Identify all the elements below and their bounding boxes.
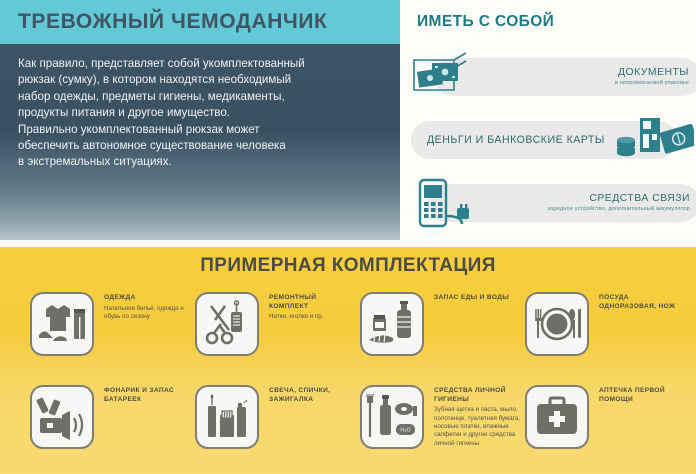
carry-list-section: ИМЕТЬ С СОБОЙ ДОКУМЕНТЫ в непромокаемой … (400, 0, 696, 240)
kit-item-text: ЗАПАС ЕДЫ И ВОДЫ (434, 294, 516, 305)
kit-item-title: ПОСУДА ОДНОРАЗОВАЯ, НОЖ (599, 294, 681, 311)
kit-item-sub: Зубная щетка и паста, мыло, полотенце, т… (434, 406, 530, 448)
tableware-icon (531, 302, 583, 346)
kit-item-sub: Нательное бельё, одежда и обувь по сезон… (104, 305, 186, 322)
kit-item-title: ЗАПАС ЕДЫ И ВОДЫ (434, 294, 516, 303)
kit-item-title: СВЕЧА, СПИЧКИ, ЗАЖИГАЛКА (269, 387, 351, 404)
hygiene-icon: H₂O (365, 393, 419, 441)
kit-item-hygiene: H₂O СРЕДСТВА ЛИЧНОЙ ГИГИЕНЫ Зубная щетка… (352, 381, 517, 474)
flashlight-battery-icon (36, 394, 88, 440)
kit-item-first-aid: АПТЕЧКА ПЕРВОЙ ПОМОЩИ (517, 381, 682, 474)
kit-item-text: СВЕЧА, СПИЧКИ, ЗАЖИГАЛКА (269, 387, 351, 406)
hero-line: в экстремальных ситуациях. (18, 154, 380, 170)
hero-line: рюкзак (сумку), в котором находятся необ… (18, 72, 380, 88)
carry-item-sublabel: в непромокаемой упаковке (615, 80, 689, 86)
kit-item-tile (195, 292, 259, 356)
carry-item-label-group: ДОКУМЕНТЫ в непромокаемой упаковке (615, 67, 689, 86)
kit-item-tile: H₂O (360, 385, 424, 449)
kit-item-sub: Нитки, иголки и пр. (269, 313, 351, 321)
kit-item-text: ФОНАРИК И ЗАПАС БАТАРЕЕК (104, 387, 186, 406)
kit-item-text: ОДЕЖДА Нательное бельё, одежда и обувь п… (104, 294, 186, 321)
kit-item-text: СРЕДСТВА ЛИЧНОЙ ГИГИЕНЫ Зубная щетка и п… (434, 387, 530, 448)
kit-item-tile (525, 292, 589, 356)
hero-panel: ТРЕВОЖНЫЙ ЧЕМОДАНЧИК Как правило, предст… (0, 0, 400, 240)
kit-item-tile (30, 385, 94, 449)
carry-item-label: СРЕДСТВА СВЯЗИ (547, 193, 690, 205)
carry-list-title: ИМЕТЬ С СОБОЙ (417, 13, 554, 31)
kit-item-text: ПОСУДА ОДНОРАЗОВАЯ, НОЖ (599, 294, 681, 313)
kit-section: ПРИМЕРНАЯ КОМПЛЕКТАЦИЯ ОДЕЖДА На (0, 247, 696, 474)
infographic-page: ТРЕВОЖНЫЙ ЧЕМОДАНЧИК Как правило, предст… (0, 0, 696, 474)
kit-item-title: РЕМОНТНЫЙ КОМПЛЕКТ (269, 294, 351, 311)
hero-line: обеспечить автономное существование чело… (18, 138, 380, 154)
kit-section-title: ПРИМЕРНАЯ КОМПЛЕКТАЦИЯ (0, 255, 696, 277)
kit-item-text: РЕМОНТНЫЙ КОМПЛЕКТ Нитки, иголки и пр. (269, 294, 351, 322)
carry-item-label: ДЕНЬГИ И БАНКОВСКИЕ КАРТЫ (427, 134, 605, 146)
top-section: ТРЕВОЖНЫЙ ЧЕМОДАНЧИК Как правило, предст… (0, 0, 696, 240)
kit-item-text: АПТЕЧКА ПЕРВОЙ ПОМОЩИ (599, 387, 681, 406)
carry-item-label: ДОКУМЕНТЫ (615, 67, 689, 79)
kit-item-title: СРЕДСТВА ЛИЧНОЙ ГИГИЕНЫ (434, 387, 530, 404)
kit-item-tile (30, 292, 94, 356)
hero-description: Как правило, представляет собой укомплек… (18, 56, 380, 171)
carry-item-label-group: СРЕДСТВА СВЯЗИ зарядное устройство, допо… (547, 193, 690, 212)
kit-item-title: ОДЕЖДА (104, 294, 186, 303)
kit-item-tile (195, 385, 259, 449)
hero-line: Правильно укомплектованный рюкзак может (18, 122, 380, 138)
kit-item-food-water: ЗАПАС ЕДЫ И ВОДЫ (352, 288, 517, 381)
kit-item-flashlight: ФОНАРИК И ЗАПАС БАТАРЕЕК (22, 381, 187, 474)
repair-kit-icon (203, 300, 251, 348)
carry-item-sublabel: зарядное устройство, дополнительный акку… (547, 206, 690, 212)
food-water-icon (367, 300, 417, 348)
kit-item-title: ФОНАРИК И ЗАПАС БАТАРЕЕК (104, 387, 186, 404)
carry-item-label-group: ДЕНЬГИ И БАНКОВСКИЕ КАРТЫ (427, 134, 605, 146)
kit-item-clothing: ОДЕЖДА Нательное бельё, одежда и обувь п… (22, 288, 187, 381)
page-title: ТРЕВОЖНЫЙ ЧЕМОДАНЧИК (18, 9, 388, 35)
kit-item-tile (525, 385, 589, 449)
kit-item-tableware: ПОСУДА ОДНОРАЗОВАЯ, НОЖ (517, 288, 682, 381)
kit-item-candle: СВЕЧА, СПИЧКИ, ЗАЖИГАЛКА (187, 381, 352, 474)
documents-icon (408, 50, 478, 96)
kit-item-repair-kit: РЕМОНТНЫЙ КОМПЛЕКТ Нитки, иголки и пр. (187, 288, 352, 381)
mobile-phone-charger-icon (400, 178, 478, 234)
kit-item-title: АПТЕЧКА ПЕРВОЙ ПОМОЩИ (599, 387, 681, 404)
hero-line: Как правило, представляет собой укомплек… (18, 56, 380, 72)
first-aid-kit-icon (533, 396, 581, 438)
svg-text:H₂O: H₂O (400, 428, 411, 434)
money-cards-icon (612, 112, 694, 164)
clothing-icon (36, 301, 88, 347)
candle-matches-icon (203, 393, 251, 441)
kit-grid: ОДЕЖДА Нательное бельё, одежда и обувь п… (0, 288, 696, 474)
hero-line: набор одежды, предметы гигиены, медикаме… (18, 89, 380, 105)
kit-item-tile (360, 292, 424, 356)
hero-line: продукты питания и другое имущество. (18, 105, 380, 121)
